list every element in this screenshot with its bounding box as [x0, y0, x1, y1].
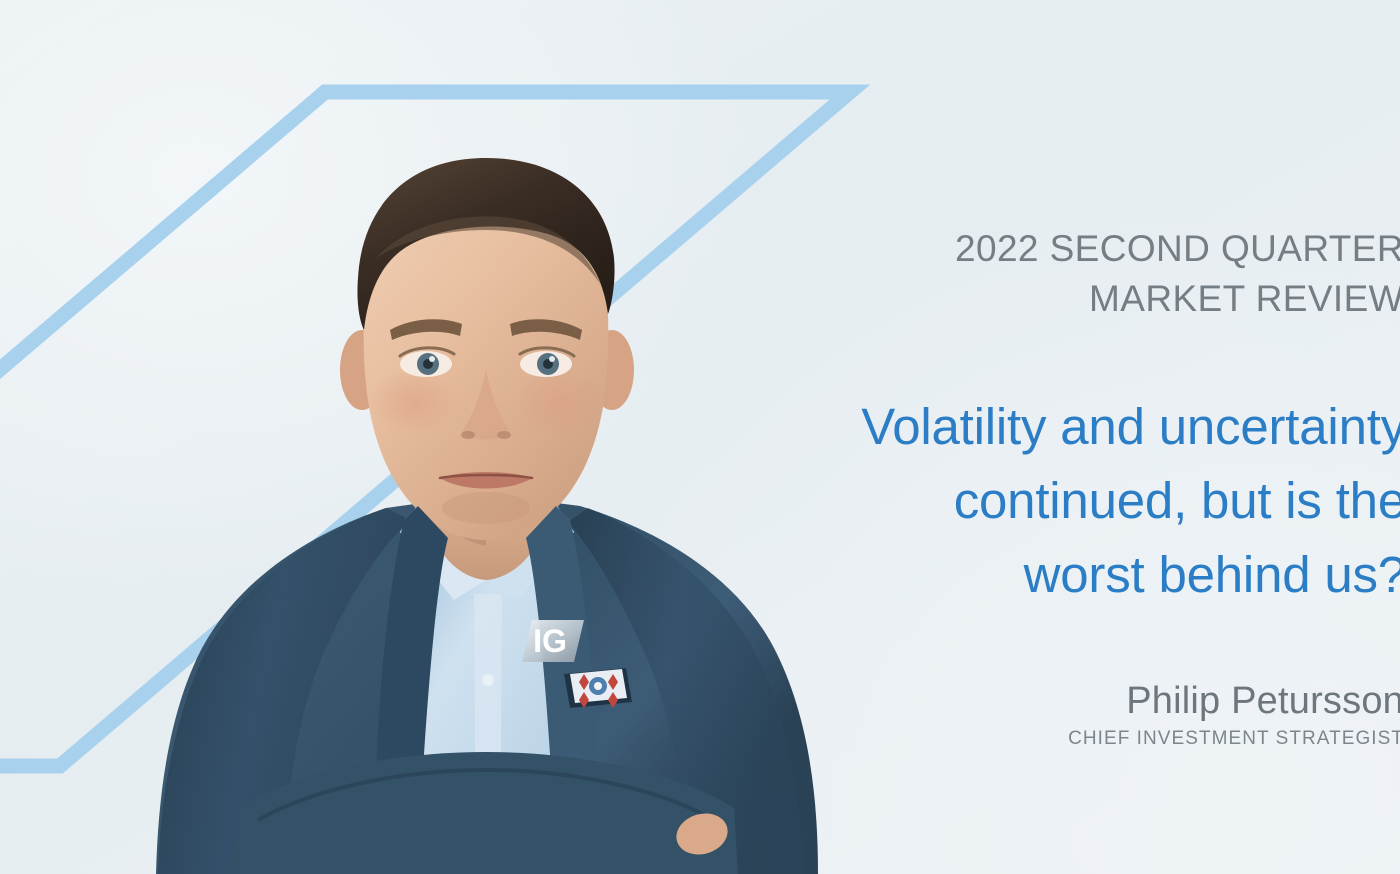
eyebrow-line-1: 2022 SECOND QUARTER — [955, 228, 1400, 269]
speaker-title: CHIEF INVESTMENT STRATEGIST — [704, 727, 1400, 751]
slide-headline: Volatility and uncertainty continued, bu… — [646, 390, 1400, 612]
ig-lapel-pin-icon: IG — [522, 620, 584, 662]
pocket-square-icon — [564, 668, 632, 708]
portrait-head — [340, 158, 634, 540]
ig-lapel-pin-label: IG — [533, 623, 567, 659]
headline-line-2: continued, but is the — [646, 464, 1400, 538]
slide-text-column: 2022 SECOND QUARTER MARKET REVIEW Volati… — [760, 0, 1400, 874]
headline-line-3: worst behind us? — [646, 538, 1400, 612]
speaker-name: Philip Petursson — [704, 679, 1400, 723]
presentation-slide: IG 2022 SECOND QUARTER — [0, 0, 1400, 874]
headline-line-1: Volatility and uncertainty — [646, 390, 1400, 464]
slide-eyebrow: 2022 SECOND QUARTER MARKET REVIEW — [704, 224, 1400, 324]
eyebrow-line-2: MARKET REVIEW — [704, 274, 1400, 324]
speaker-byline: Philip Petursson CHIEF INVESTMENT STRATE… — [704, 679, 1400, 751]
